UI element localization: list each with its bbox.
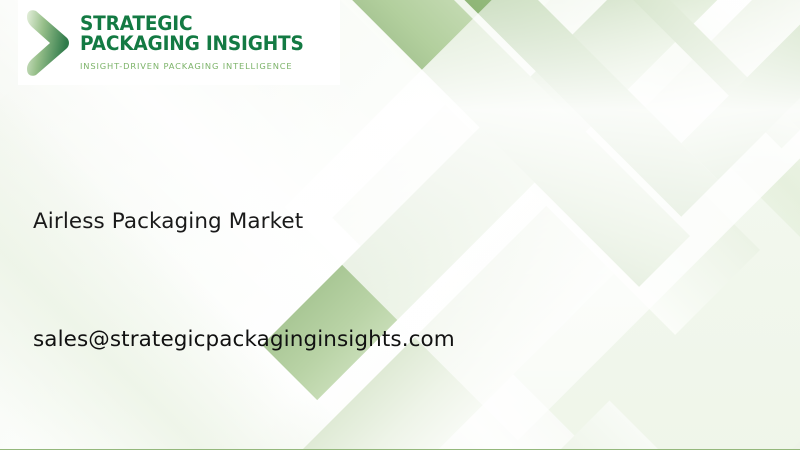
logo-line-1: STRATEGIC bbox=[80, 14, 304, 34]
chevron-arrow-icon bbox=[24, 7, 70, 79]
slide-canvas: STRATEGIC PACKAGING INSIGHTS INSIGHT-DRI… bbox=[0, 0, 800, 450]
logo-line-2: PACKAGING INSIGHTS bbox=[80, 34, 304, 54]
logo-lockup: STRATEGIC PACKAGING INSIGHTS INSIGHT-DRI… bbox=[18, 0, 340, 85]
logo-wordmark: STRATEGIC PACKAGING INSIGHTS INSIGHT-DRI… bbox=[80, 14, 315, 71]
page-title: Airless Packaging Market bbox=[33, 209, 303, 234]
logo-tagline: INSIGHT-DRIVEN PACKAGING INTELLIGENCE bbox=[80, 61, 315, 71]
contact-email[interactable]: sales@strategicpackaginginsights.com bbox=[33, 327, 455, 352]
